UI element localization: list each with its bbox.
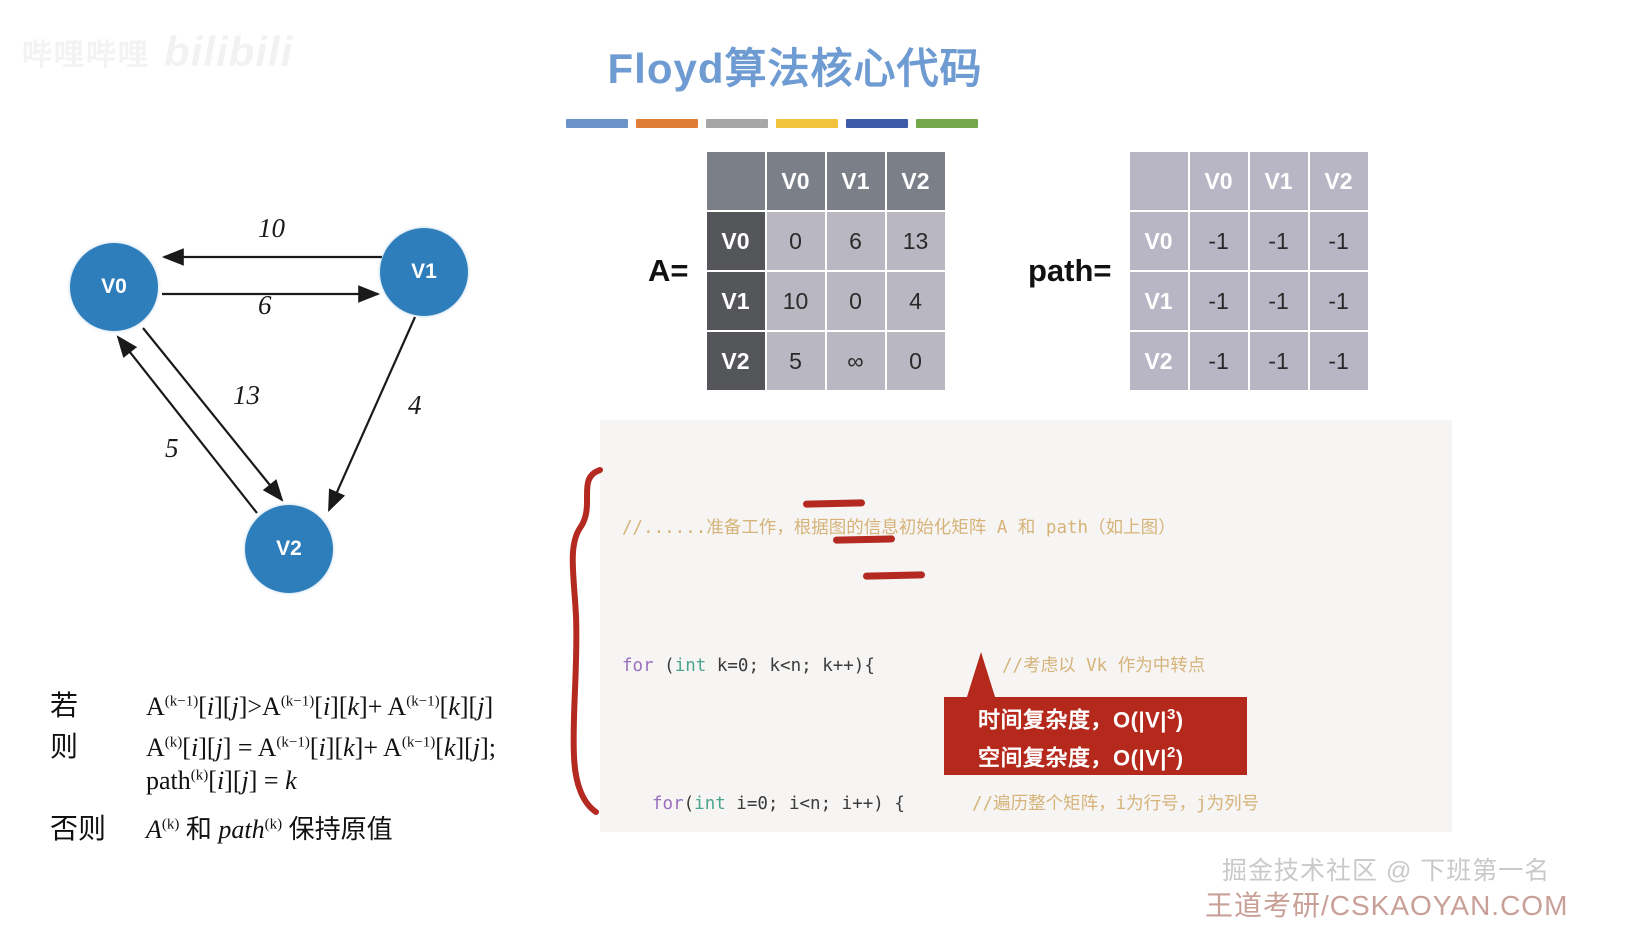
matrix-a-row-2: V2 (707, 332, 765, 390)
code-comment-2: //考虑以 Vk 作为中转点 (1002, 649, 1205, 684)
edge-weight-v0-v2: 13 (233, 380, 260, 411)
title-bar-3 (776, 119, 838, 128)
matrix-a-cell-1-1: 0 (827, 272, 885, 330)
matrix-path-table: V0 V1 V2 V0 -1 -1 -1 V1 -1 -1 -1 V2 -1 -… (1128, 150, 1370, 392)
formula-row-then: 则 A(k)[i][j] = A(k−1)[i][k]+ A(k−1)[k][j… (50, 725, 496, 766)
watermark-cskaoyan: 王道考研/CSKAOYAN.COM (1205, 884, 1568, 924)
callout-arrow-icon (966, 652, 996, 700)
complexity-callout: 时间复杂度，O(|V|3) 空间复杂度，O(|V|2) (944, 697, 1247, 775)
code-type-int-i: int (694, 794, 726, 814)
time-complexity-label: 时间复杂度， (978, 707, 1113, 732)
graph-node-v0: V0 (70, 243, 158, 331)
code-line-3: for(int i=0; i<n; i++) {//遍历整个矩阵，i为行号，j为… (622, 787, 1452, 822)
matrix-path-col-2: V2 (1310, 152, 1368, 210)
matrix-a-cell-2-0: 5 (767, 332, 825, 390)
matrix-a-label: A= (648, 253, 689, 289)
annotation-underline-k (803, 499, 865, 507)
matrix-a-cell-1-0: 10 (767, 272, 825, 330)
title-color-bars (566, 119, 978, 128)
matrix-a: A= V0 V1 V2 V0 0 6 13 V1 10 0 4 V2 (648, 150, 947, 392)
code-comment-3: //遍历整个矩阵，i为行号，j为列号 (972, 787, 1259, 822)
matrix-path-cell-2-0: -1 (1190, 332, 1248, 390)
formula-then-expr-2: path(k)[i][j] = k (146, 766, 297, 796)
matrix-a-cell-0-1: 6 (827, 212, 885, 270)
matrix-path-corner (1130, 152, 1188, 210)
matrix-path-cell-1-2: -1 (1310, 272, 1368, 330)
matrix-a-row-1: V1 (707, 272, 765, 330)
page-title: Floyd算法核心代码 (560, 35, 1030, 96)
bilibili-watermark-cn: 哔哩哔哩 (22, 30, 150, 74)
matrix-a-table: V0 V1 V2 V0 0 6 13 V1 10 0 4 V2 5 ∞ 0 (705, 150, 947, 392)
formula-then-expr-1: A(k)[i][j] = A(k−1)[i][k]+ A(k−1)[k][j]; (146, 733, 496, 763)
edge-weight-v2-v0: 5 (165, 433, 179, 464)
matrix-a-cell-2-1: ∞ (827, 332, 885, 390)
table-row: V2 -1 -1 -1 (1130, 332, 1368, 390)
code-line-1: //......准备工作，根据图的信息初始化矩阵 A 和 path（如上图） (622, 511, 1452, 546)
formula-block: 若 A(k−1)[i][j]>A(k−1)[i][k]+ A(k−1)[k][j… (50, 684, 496, 848)
code-comment-1: //......准备工作，根据图的信息初始化矩阵 A 和 path（如上图） (622, 518, 1176, 538)
matrix-path-cell-0-1: -1 (1250, 212, 1308, 270)
graph-node-v1: V1 (380, 228, 468, 316)
matrix-a-cell-0-0: 0 (767, 212, 825, 270)
space-complexity-row: 空间复杂度，O(|V|2) (978, 736, 1247, 774)
time-complexity-exp: 3 (1167, 706, 1176, 723)
space-complexity-close: ) (1176, 745, 1184, 770)
matrix-path-cell-2-1: -1 (1250, 332, 1308, 390)
matrix-path-label: path= (1028, 253, 1112, 289)
formula-row-if: 若 A(k−1)[i][j]>A(k−1)[i][k]+ A(k−1)[k][j… (50, 684, 496, 725)
code-expr-i: i=0; i<n; i++) { (726, 794, 905, 814)
matrix-path-cell-1-1: -1 (1250, 272, 1308, 330)
formula-row-else: 否则 A(k) 和 path(k) 保持原值 (50, 807, 496, 848)
space-complexity-exp: 2 (1167, 744, 1176, 761)
annotation-underline-i (833, 535, 895, 543)
matrix-a-col-2: V2 (887, 152, 945, 210)
watermark-juejin: 掘金技术社区 @ 下班第一名 (1222, 851, 1550, 887)
formula-if-expr: A(k−1)[i][j]>A(k−1)[i][k]+ A(k−1)[k][j] (146, 692, 493, 722)
formula-then-word: 则 (50, 725, 146, 765)
table-row: V1 10 0 4 (707, 272, 945, 330)
formula-row-then2: path(k)[i][j] = k (50, 766, 496, 807)
matrix-path-cell-2-2: -1 (1310, 332, 1368, 390)
matrix-path-row-1: V1 (1130, 272, 1188, 330)
time-complexity-row: 时间复杂度，O(|V|3) (978, 698, 1247, 736)
matrix-path-col-1: V1 (1250, 152, 1308, 210)
code-line-4: for (int j=0; j<n; j++){ (622, 925, 1452, 932)
table-row: V0 0 6 13 (707, 212, 945, 270)
space-complexity-value: O(|V| (1113, 745, 1167, 770)
matrix-path: path= V0 V1 V2 V0 -1 -1 -1 V1 -1 -1 -1 V… (1028, 150, 1370, 392)
formula-else-word: 否则 (50, 807, 146, 847)
formula-if-word: 若 (50, 684, 146, 724)
matrix-path-row-2: V2 (1130, 332, 1188, 390)
matrix-a-corner (707, 152, 765, 210)
table-header-row: V0 V1 V2 (1130, 152, 1368, 210)
matrix-a-cell-1-2: 4 (887, 272, 945, 330)
matrix-path-row-0: V0 (1130, 212, 1188, 270)
code-keyword-for-k: for (622, 656, 654, 676)
table-row: V0 -1 -1 -1 (1130, 212, 1368, 270)
time-complexity-value: O(|V| (1113, 707, 1167, 732)
space-complexity-label: 空间复杂度， (978, 745, 1113, 770)
matrix-path-col-0: V0 (1190, 152, 1248, 210)
table-row: V1 -1 -1 -1 (1130, 272, 1368, 330)
code-line-2: for (int k=0; k<n; k++){//考虑以 Vk 作为中转点 (622, 649, 1452, 684)
edge-weight-v0-v1: 6 (258, 290, 272, 321)
bilibili-logo-icon: bilibili (164, 28, 293, 76)
title-bar-1 (636, 119, 698, 128)
title-bar-4 (846, 119, 908, 128)
title-bar-5 (916, 119, 978, 128)
matrix-a-col-1: V1 (827, 152, 885, 210)
matrix-a-cell-0-2: 13 (887, 212, 945, 270)
matrix-path-cell-0-2: -1 (1310, 212, 1368, 270)
matrix-path-cell-0-0: -1 (1190, 212, 1248, 270)
matrix-a-cell-2-2: 0 (887, 332, 945, 390)
table-header-row: V0 V1 V2 (707, 152, 945, 210)
matrix-path-cell-1-0: -1 (1190, 272, 1248, 330)
title-bar-0 (566, 119, 628, 128)
graph-node-v2: V2 (245, 505, 333, 593)
code-punct-3a: ( (684, 794, 695, 814)
matrix-a-row-0: V0 (707, 212, 765, 270)
annotation-underline-j (863, 571, 925, 579)
slide-canvas: 哔哩哔哩 bilibili Floyd算法核心代码 (0, 0, 1638, 932)
formula-else-expr: A(k) 和 path(k) 保持原值 (146, 809, 393, 846)
title-bar-2 (706, 119, 768, 128)
code-expr-k: k=0; k<n; k++){ (706, 656, 875, 676)
code-type-int-k: int (675, 656, 707, 676)
edge-weight-v1-v2: 4 (408, 390, 422, 421)
bilibili-watermark: 哔哩哔哩 bilibili (22, 28, 293, 76)
code-punct-2a: ( (654, 656, 675, 676)
edge-weight-v1-v0: 10 (258, 213, 285, 244)
table-row: V2 5 ∞ 0 (707, 332, 945, 390)
code-keyword-for-i: for (652, 794, 684, 814)
graph-diagram: V0 V1 V2 10 6 13 5 4 (30, 195, 550, 625)
matrix-a-col-0: V0 (767, 152, 825, 210)
time-complexity-close: ) (1176, 707, 1184, 732)
